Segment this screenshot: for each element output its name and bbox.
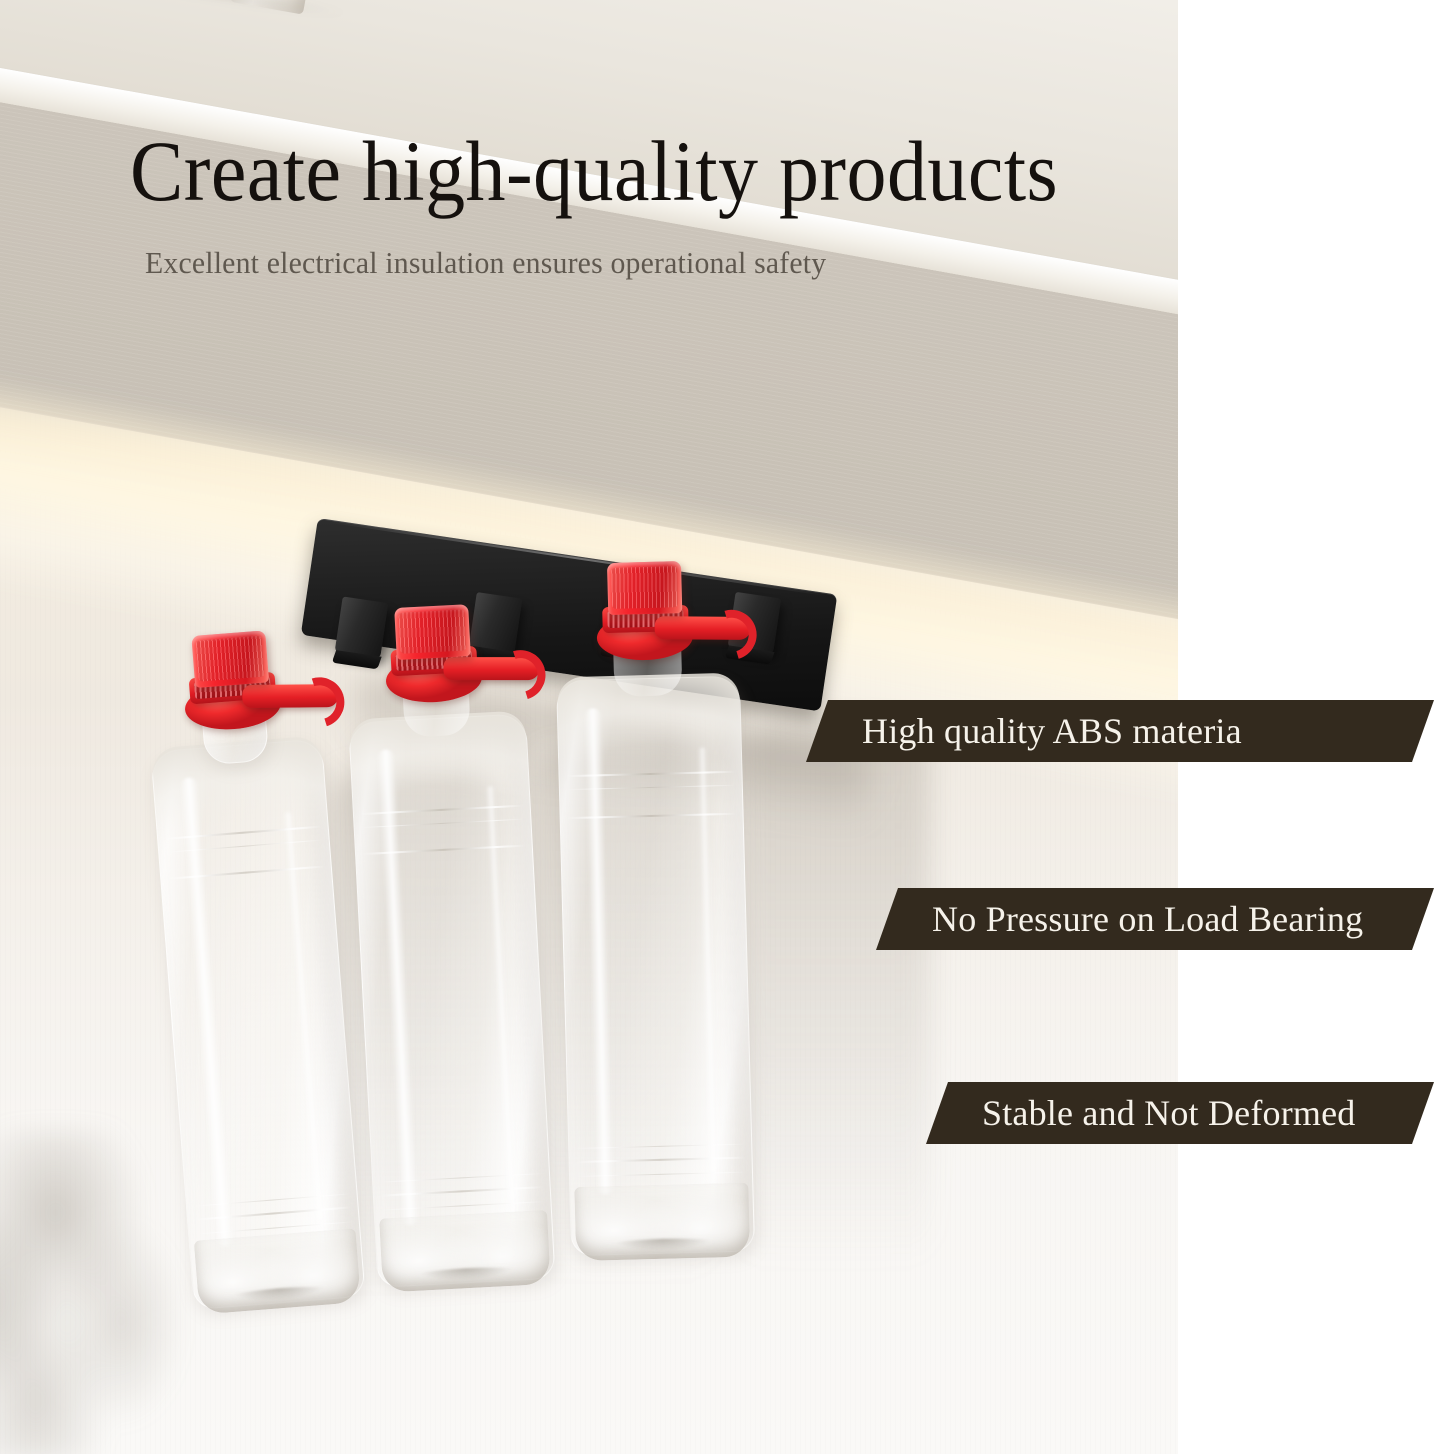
bottle-hook-tongue	[443, 657, 539, 680]
liquor-bottle-group: FRAPIN COGNAC COGNAC GRANDE CHAMPAGNE PR…	[0, 0, 350, 17]
shelf-contact-shadow	[0, 0, 375, 33]
page-title: Create high-quality products	[130, 128, 1058, 214]
feature-banner-3: Stable and Not Deformed	[926, 1082, 1434, 1144]
product-marketing-image: FRAPIN COGNAC COGNAC GRANDE CHAMPAGNE PR…	[0, 0, 1445, 1454]
rack-hook-2	[469, 592, 523, 654]
hanging-bottle-2	[348, 713, 555, 1288]
feature-banner-3-label: Stable and Not Deformed	[982, 1095, 1356, 1131]
bottle-hook-tongue	[655, 616, 751, 640]
bottle-highlight-secondary	[698, 747, 718, 1171]
bottle-base	[574, 1183, 750, 1262]
rack-hook-1	[335, 596, 389, 658]
plant-shadow	[0, 1130, 260, 1454]
pet-bottle-body	[348, 713, 555, 1288]
bottle-highlight-secondary	[283, 812, 324, 1219]
bottle-highlight-secondary	[486, 786, 517, 1200]
cap-knurl-texture	[196, 636, 265, 682]
feature-banner-2: No Pressure on Load Bearing	[876, 888, 1434, 950]
hanging-bottle-3	[556, 676, 755, 1257]
pet-bottle-body	[556, 676, 755, 1257]
bottle-base	[379, 1210, 551, 1293]
feature-banner-1: High quality ABS materia	[806, 700, 1434, 762]
feature-banner-1-label: High quality ABS materia	[862, 713, 1242, 749]
cap-knurl-texture	[398, 609, 466, 653]
page-subtitle: Excellent electrical insulation ensures …	[145, 247, 826, 278]
feature-banner-2-label: No Pressure on Load Bearing	[932, 901, 1363, 937]
bottle-cap	[607, 561, 682, 615]
cap-knurl-texture	[611, 566, 678, 609]
bottle-cap	[191, 630, 269, 688]
bottle-cap	[394, 604, 471, 660]
bottle-hook-tongue	[242, 684, 338, 708]
